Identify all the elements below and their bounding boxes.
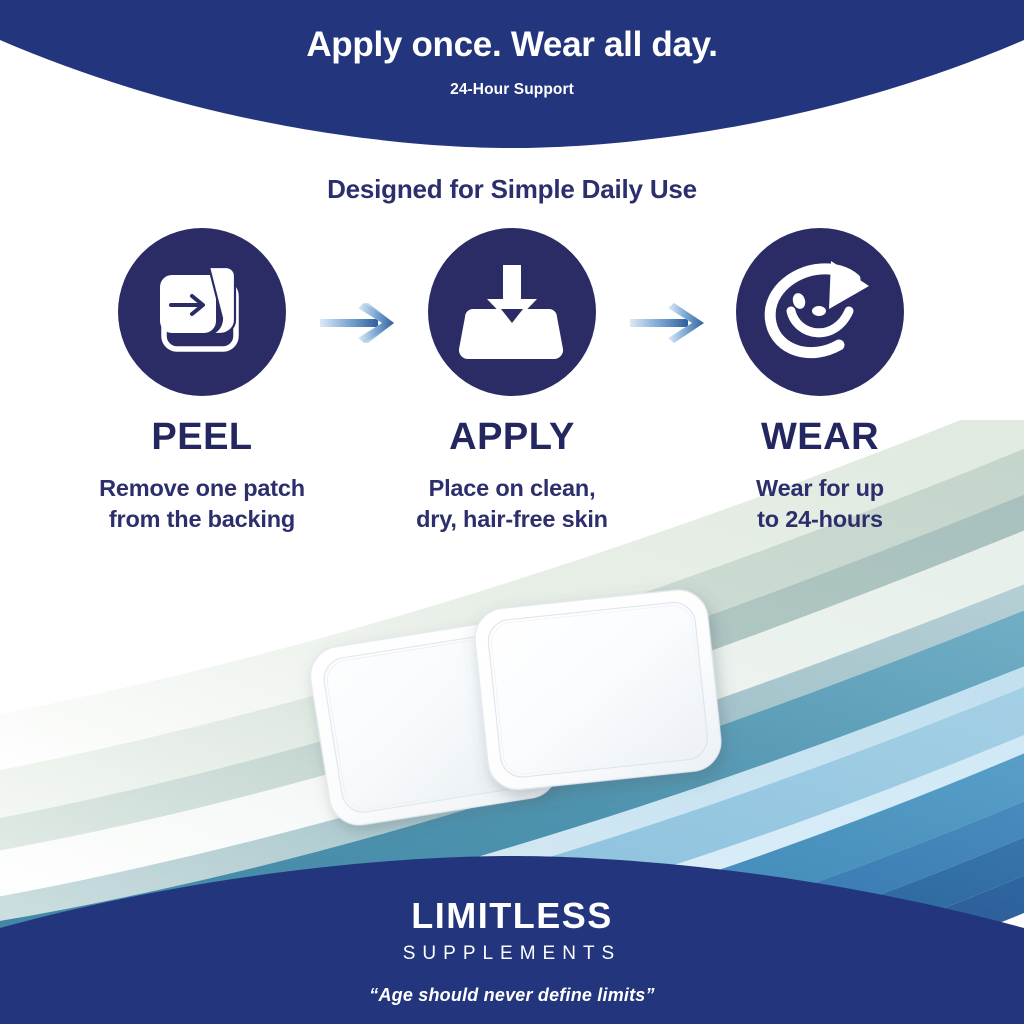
- step-apply-desc-line2: dry, hair-free skin: [362, 504, 662, 535]
- step-wear-desc-line1: Wear for up: [670, 473, 970, 504]
- step-wear-title: WEAR: [670, 418, 970, 456]
- infographic-canvas: Apply once. Wear all day. 24-Hour Suppor…: [0, 0, 1024, 1024]
- arrow-right-icon: [318, 333, 404, 350]
- step-apply: APPLY Place on clean, dry, hair-free ski…: [362, 228, 662, 536]
- step-wear-description: Wear for up to 24-hours: [670, 473, 970, 536]
- step-peel-title: PEEL: [52, 418, 352, 456]
- step-wear-icon-circle: [736, 228, 904, 396]
- connector-arrow-2: [628, 300, 714, 351]
- step-apply-description: Place on clean, dry, hair-free skin: [362, 473, 662, 536]
- steps-row: PEEL Remove one patch from the backing: [0, 228, 1024, 568]
- wear-rotating-clock-icon: [761, 255, 879, 369]
- step-peel: PEEL Remove one patch from the backing: [52, 228, 352, 536]
- step-peel-description: Remove one patch from the backing: [52, 473, 352, 536]
- apply-arrow-down-to-skin-icon: [453, 257, 571, 367]
- footer-band: [0, 854, 1024, 1024]
- product-patches-image: [285, 580, 755, 840]
- step-wear: WEAR Wear for up to 24-hours: [670, 228, 970, 536]
- arrow-right-icon: [628, 333, 714, 350]
- step-peel-desc-line1: Remove one patch: [52, 473, 352, 504]
- connector-arrow-1: [318, 300, 404, 351]
- section-heading: Designed for Simple Daily Use: [0, 174, 1024, 205]
- step-wear-desc-line2: to 24-hours: [670, 504, 970, 535]
- step-peel-desc-line2: from the backing: [52, 504, 352, 535]
- step-peel-icon-circle: [118, 228, 286, 396]
- step-apply-desc-line1: Place on clean,: [362, 473, 662, 504]
- header-band: [0, 0, 1024, 160]
- step-apply-title: APPLY: [362, 418, 662, 456]
- peel-patch-icon: [147, 257, 257, 367]
- step-apply-icon-circle: [428, 228, 596, 396]
